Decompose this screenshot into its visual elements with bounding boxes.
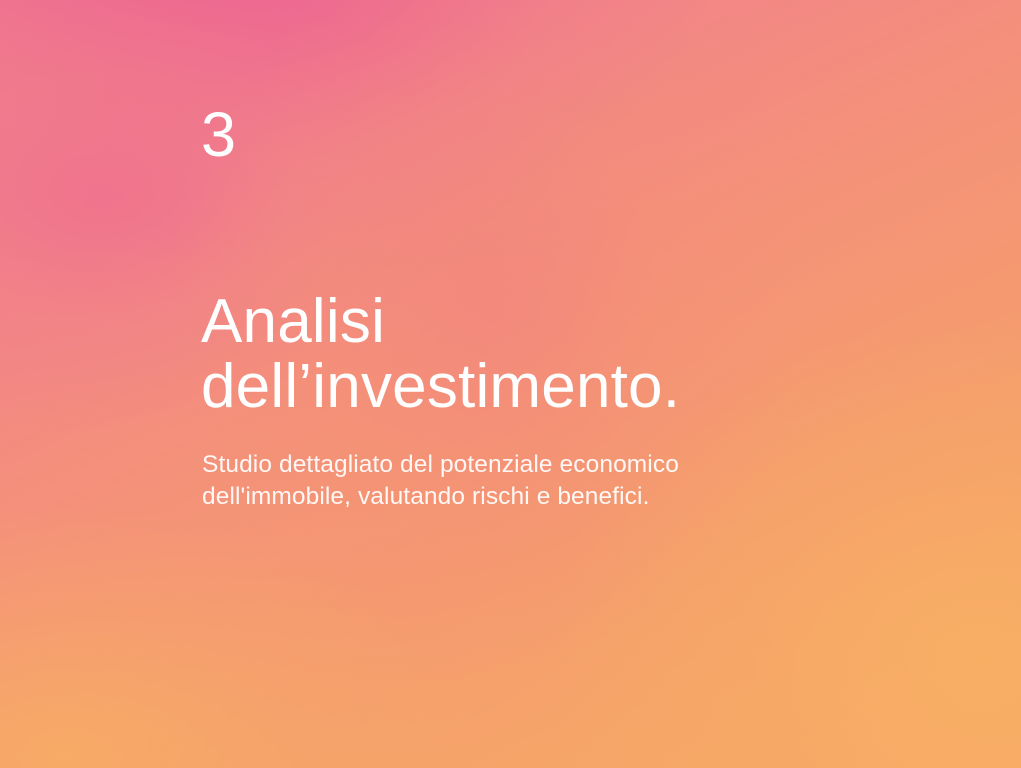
slide-title: Analisi dell’investimento. xyxy=(201,289,901,419)
section-number: 3 xyxy=(201,104,237,167)
title-slide: 3 Analisi dell’investimento. Studio dett… xyxy=(0,0,1021,768)
slide-content: 3 Analisi dell’investimento. Studio dett… xyxy=(201,0,901,768)
slide-subtitle: Studio dettagliato del potenziale econom… xyxy=(202,449,842,513)
